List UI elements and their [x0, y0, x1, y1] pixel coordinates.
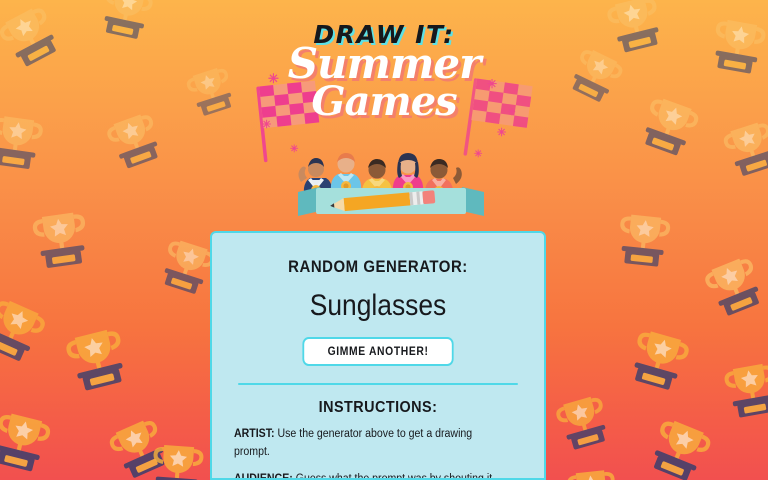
logo-title-games: Games — [0, 84, 768, 121]
trophy-icon — [93, 406, 191, 480]
masthead: ✳ ✳ ✳ ✳ ✳ ✳ ✳ DRAW IT: Summer Games — [0, 0, 768, 228]
random-generator-heading: RANDOM GENERATOR: — [251, 257, 504, 277]
instruction-text: Guess what the prompt was by shouting it — [293, 473, 492, 480]
instruction-line: AUDIENCE: Guess what the prompt was by s… — [234, 471, 499, 480]
trophy-icon — [542, 386, 629, 473]
sparkle-icon: ✳ — [262, 120, 271, 131]
random-generator-card: RANDOM GENERATOR: Sunglasses GIMME ANOTH… — [210, 231, 546, 480]
gimme-another-button[interactable]: GIMME ANOTHER! — [302, 337, 453, 366]
instruction-line: ARTIST: Use the generator above to get a… — [234, 426, 499, 462]
trophy-icon — [50, 318, 149, 417]
sparkle-icon: ✳ — [497, 128, 506, 139]
trophy-icon — [0, 286, 62, 389]
trophy-icon — [138, 438, 217, 480]
trophy-icon — [554, 462, 631, 480]
page-background: ✳ ✳ ✳ ✳ ✳ ✳ ✳ DRAW IT: Summer Games — [0, 0, 768, 480]
trophy-icon — [626, 406, 727, 480]
athletes-illustration — [296, 126, 486, 222]
regenerate-row: GIMME ANOTHER! — [234, 337, 522, 366]
prompt-value: Sunglasses — [251, 289, 504, 323]
trophy-icon — [689, 245, 768, 341]
instruction-role: AUDIENCE: — [234, 473, 293, 480]
trophy-icon — [710, 354, 768, 440]
section-divider — [238, 383, 518, 385]
trophy-icon — [609, 319, 705, 415]
instructions-heading: INSTRUCTIONS: — [248, 399, 507, 417]
instruction-role: ARTIST: — [234, 428, 275, 440]
trophy-icon — [0, 402, 66, 480]
logo-wordmark: DRAW IT: Summer Games — [0, 22, 768, 120]
